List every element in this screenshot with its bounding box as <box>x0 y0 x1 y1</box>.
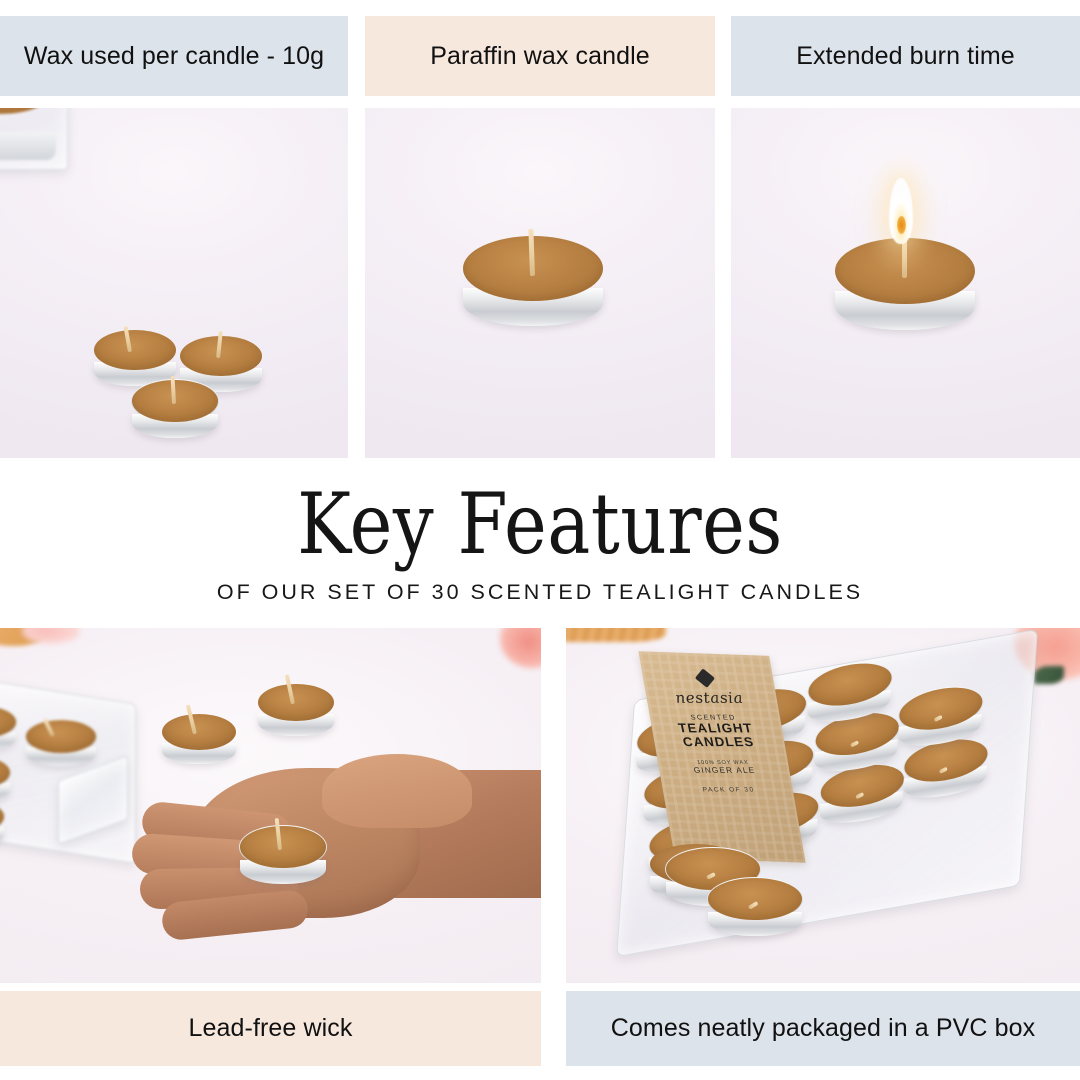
photo-three-tealights <box>0 108 348 458</box>
loose-candle-front <box>708 878 802 936</box>
photo-pvc-box-package: nestasia SCENTED TEALIGHT CANDLES 100% S… <box>566 628 1080 983</box>
banner-burn-time: Extended burn time <box>731 16 1080 96</box>
photo-hand-holding-tealight <box>0 628 541 983</box>
brand-diamond-icon <box>695 668 715 688</box>
rose-leaf <box>1034 666 1064 684</box>
tealight-in-palm <box>240 826 326 884</box>
banner-label: Comes neatly packaged in a PVC box <box>611 1014 1035 1043</box>
banner-label: Wax used per candle - 10g <box>24 42 324 71</box>
banner-paraffin-wax: Paraffin wax candle <box>365 16 715 96</box>
banner-label: Paraffin wax candle <box>430 42 650 71</box>
banner-label: Extended burn time <box>796 42 1015 71</box>
label-fragrance: GINGER ALE <box>693 765 756 774</box>
banner-label: Lead-free wick <box>189 1014 353 1043</box>
tray-candle-2 <box>26 720 96 766</box>
label-candles: CANDLES <box>682 736 756 750</box>
flame-core <box>897 216 906 234</box>
hand <box>112 760 541 960</box>
wood-board-prop <box>566 628 666 642</box>
label-pack-count: PACK OF 30 <box>702 786 755 793</box>
banner-wax-per-candle: Wax used per candle - 10g <box>0 16 348 96</box>
tray-candle-1 <box>0 706 16 750</box>
tealight-lit <box>835 238 975 330</box>
tray-candle-4 <box>0 800 4 846</box>
tealight-front <box>132 380 218 438</box>
banner-lead-free-wick: Lead-free wick <box>0 991 541 1066</box>
tealight-single <box>463 236 603 326</box>
tray-candle-3 <box>0 756 10 802</box>
pvc-tray-corner <box>0 108 68 170</box>
tealight-back-left <box>94 330 176 386</box>
key-features-subtitle-block: OF OUR SET OF 30 SCENTED TEALIGHT CANDLE… <box>0 580 1080 605</box>
brand-name: nestasia <box>673 689 744 707</box>
page-subtitle: OF OUR SET OF 30 SCENTED TEALIGHT CANDLE… <box>0 580 1080 605</box>
key-features-title-block: Key Features <box>0 482 1080 566</box>
table-candle-mid <box>162 714 236 764</box>
photo-lit-tealight <box>731 108 1080 458</box>
photo-single-tealight <box>365 108 715 458</box>
label-tealight: TEALIGHT <box>677 721 754 735</box>
infographic-page: Wax used per candle - 10g Paraffin wax c… <box>0 0 1080 1080</box>
page-title: Key Features <box>76 482 1005 566</box>
banner-pvc-box: Comes neatly packaged in a PVC box <box>566 991 1080 1066</box>
table-candle-right <box>258 684 334 736</box>
